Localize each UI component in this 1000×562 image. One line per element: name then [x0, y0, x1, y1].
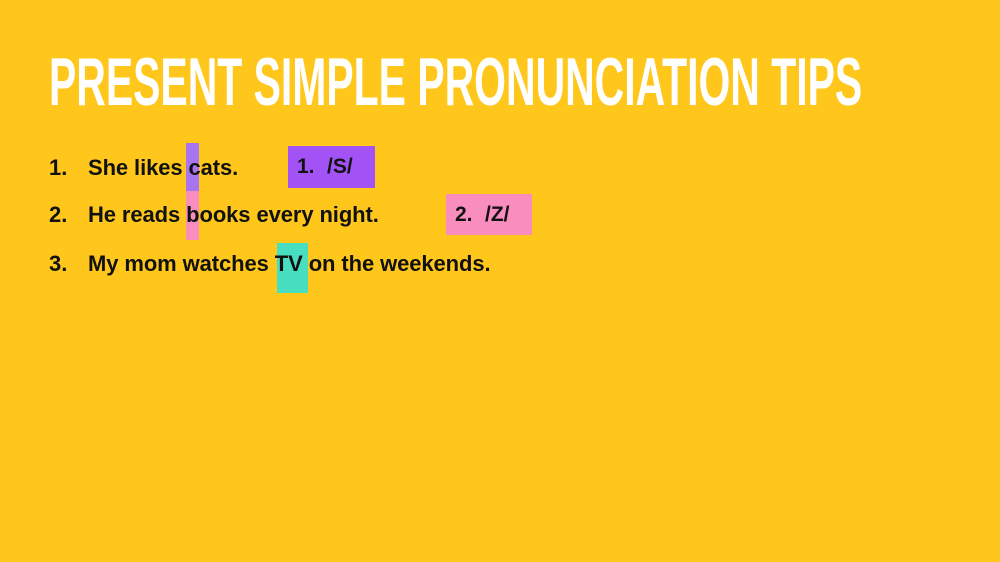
sound-badge-s: 1. /S/: [288, 146, 375, 188]
list-item-number: 2.: [49, 197, 88, 233]
list-item-text: She likes cats.: [88, 150, 238, 186]
list-item-text: My mom watches TV on the weekends.: [88, 246, 490, 282]
list-item-text: He reads books every night.: [88, 197, 379, 233]
list-item-number: 3.: [49, 246, 88, 282]
sound-badge-symbol: /S/: [327, 155, 353, 179]
list-item-number: 1.: [49, 150, 88, 186]
bullet-list: 1. She likes cats. 2. He reads books eve…: [0, 0, 1000, 562]
sound-badge-number: 1.: [297, 155, 327, 179]
list-item: 1. She likes cats.: [49, 150, 238, 186]
sound-badge-z: 2. /Z/: [446, 194, 532, 235]
sound-badge-symbol: /Z/: [485, 203, 510, 227]
sound-badge-number: 2.: [455, 203, 485, 227]
list-item: 3. My mom watches TV on the weekends.: [49, 246, 490, 282]
slide-canvas: PRESENT SIMPLE PRONUNCIATION TIPS 1. She…: [0, 0, 1000, 562]
list-item: 2. He reads books every night.: [49, 197, 379, 233]
